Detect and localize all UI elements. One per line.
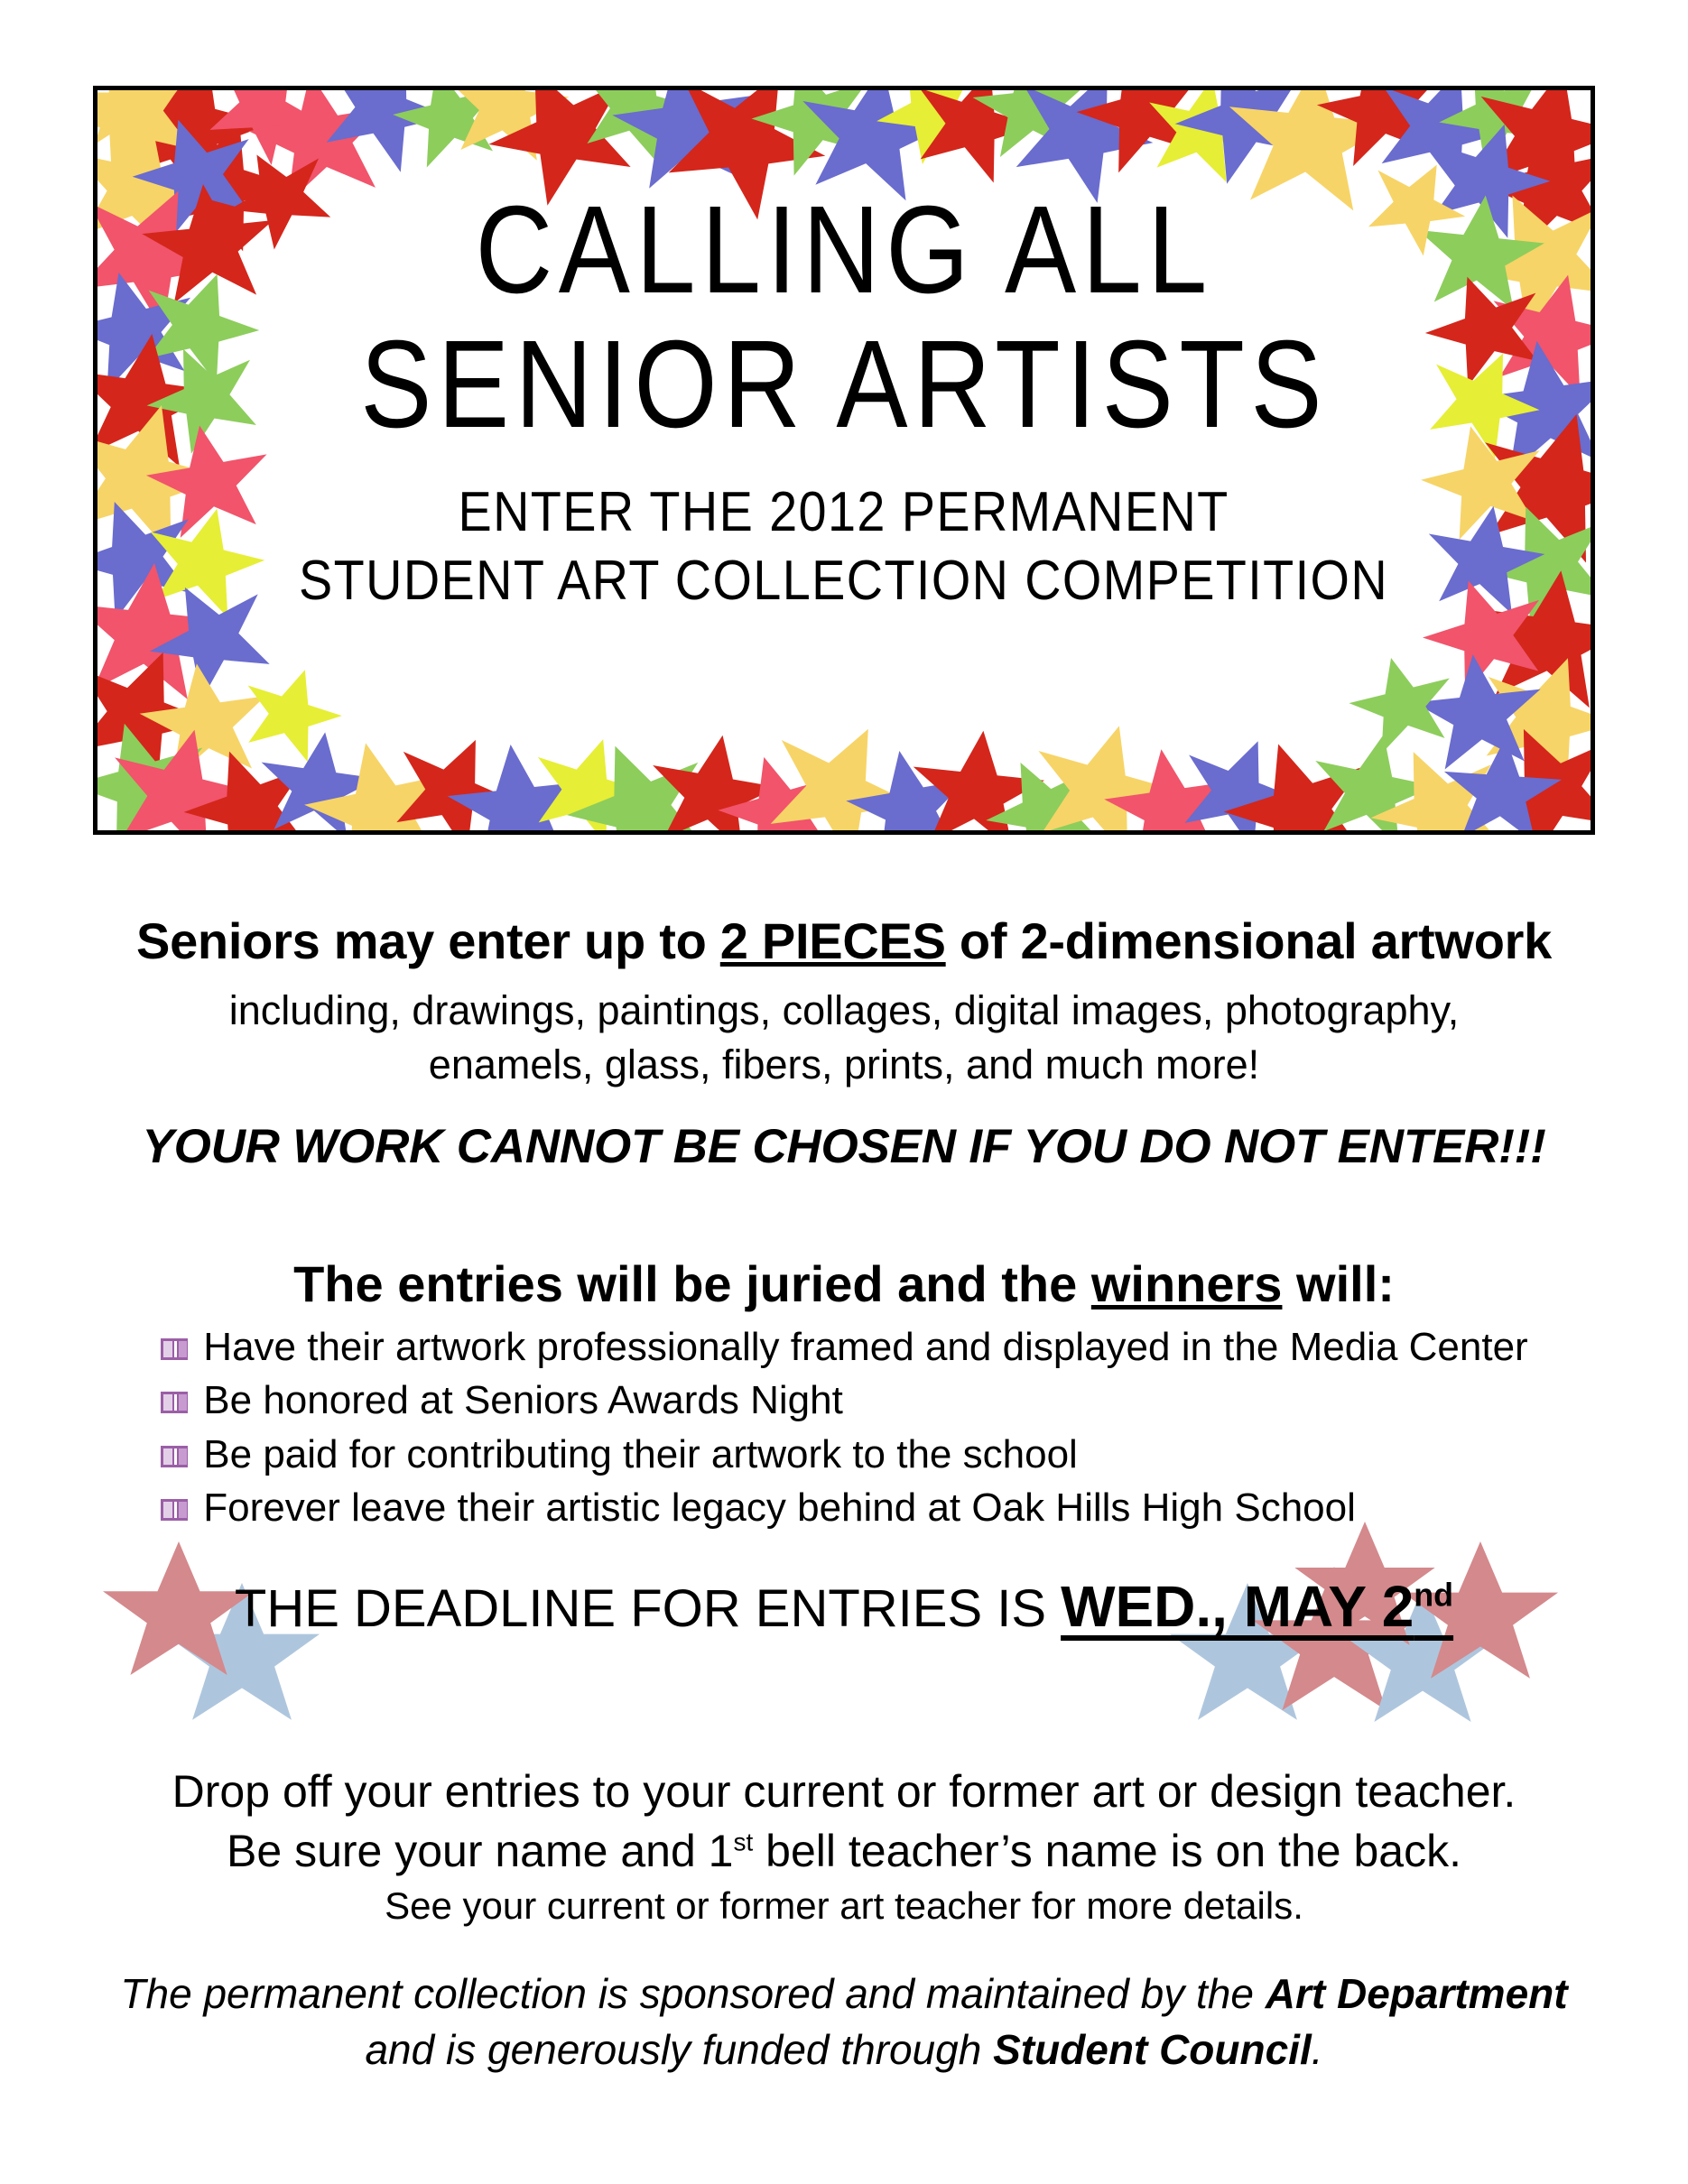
sponsor-line-1: The permanent collection is sponsored an… [0, 1966, 1688, 2022]
sponsor-student-council: Student Council [993, 2026, 1312, 2073]
dropoff-line-2-before: Be sure your name and 1 [227, 1826, 733, 1876]
dropoff-details: See your current or former art teacher f… [0, 1884, 1688, 1928]
warning-text: YOUR WORK CANNOT BE CHOSEN IF YOU DO NOT… [0, 1119, 1688, 1174]
dropoff-ordinal-suffix: st [733, 1828, 753, 1855]
dropoff-line-1: Drop off your entries to your current or… [0, 1762, 1688, 1822]
banner-text: CALLING ALL SENIOR ARTISTS ENTER THE 201… [97, 90, 1591, 830]
entry-rules-emphasis: 2 PIECES [720, 912, 946, 969]
list-item: Be honored at Seniors Awards Night [160, 1374, 1527, 1427]
deadline-band: THE DEADLINE FOR ENTRIES ISWED., MAY 2nd [0, 1480, 1688, 1751]
header-banner: CALLING ALL SENIOR ARTISTS ENTER THE 201… [93, 86, 1595, 835]
deadline-date-suffix: nd [1414, 1578, 1453, 1614]
flyer-page: CALLING ALL SENIOR ARTISTS ENTER THE 201… [0, 0, 1688, 2184]
entry-rules-lead-before: Seniors may enter up to [136, 912, 720, 969]
winners-heading: The entries will be juried and the winne… [0, 1254, 1688, 1313]
book-icon [160, 1389, 190, 1416]
winners-heading-before: The entries will be juried and the [293, 1255, 1091, 1312]
deadline-date-main: WED., MAY 2 [1061, 1574, 1414, 1639]
book-icon [160, 1336, 190, 1363]
entry-rules-lead-after: of 2-dimensional artwork [946, 912, 1552, 969]
sponsor-line-2-before: and is generously funded through [365, 2026, 993, 2073]
banner-subtitle-line-1: ENTER THE 2012 PERMANENT [459, 478, 1229, 547]
sponsor-art-department: Art Department [1266, 1970, 1568, 2017]
banner-title-line-1: CALLING ALL [475, 190, 1212, 311]
list-item-label: Be paid for contributing their artwork t… [203, 1428, 1078, 1481]
banner-title-line-2: SENIOR ARTISTS [360, 324, 1328, 446]
dropoff-line-2: Be sure your name and 1st bell teacher’s… [0, 1821, 1688, 1882]
deadline-label: THE DEADLINE FOR ENTRIES IS [235, 1579, 1046, 1638]
sponsor-line-2-after: . [1312, 2026, 1323, 2073]
winners-heading-emphasis: winners [1091, 1255, 1283, 1312]
sponsor-line-1-before: The permanent collection is sponsored an… [120, 1970, 1265, 2017]
deadline-line: THE DEADLINE FOR ENTRIES ISWED., MAY 2nd [0, 1578, 1688, 1635]
list-item-label: Have their artwork professionally framed… [203, 1320, 1527, 1374]
list-item-label: Be honored at Seniors Awards Night [203, 1374, 843, 1427]
sponsor-line-2: and is generously funded through Student… [0, 2022, 1688, 2078]
entry-rules-lead: Seniors may enter up to 2 PIECES of 2-di… [0, 913, 1688, 970]
entry-rules-detail-line-2: enamels, glass, fibers, prints, and much… [0, 1038, 1688, 1091]
dropoff-line-2-after: bell teacher’s name is on the back. [753, 1826, 1461, 1876]
list-item: Have their artwork professionally framed… [160, 1320, 1527, 1374]
entry-rules-detail-line-1: including, drawings, paintings, collages… [0, 984, 1688, 1037]
list-item: Be paid for contributing their artwork t… [160, 1428, 1527, 1481]
banner-subtitle-line-2: STUDENT ART COLLECTION COMPETITION [299, 547, 1388, 615]
book-icon [160, 1443, 190, 1470]
deadline-date: WED., MAY 2nd [1061, 1574, 1453, 1639]
winners-heading-after: will: [1282, 1255, 1394, 1312]
